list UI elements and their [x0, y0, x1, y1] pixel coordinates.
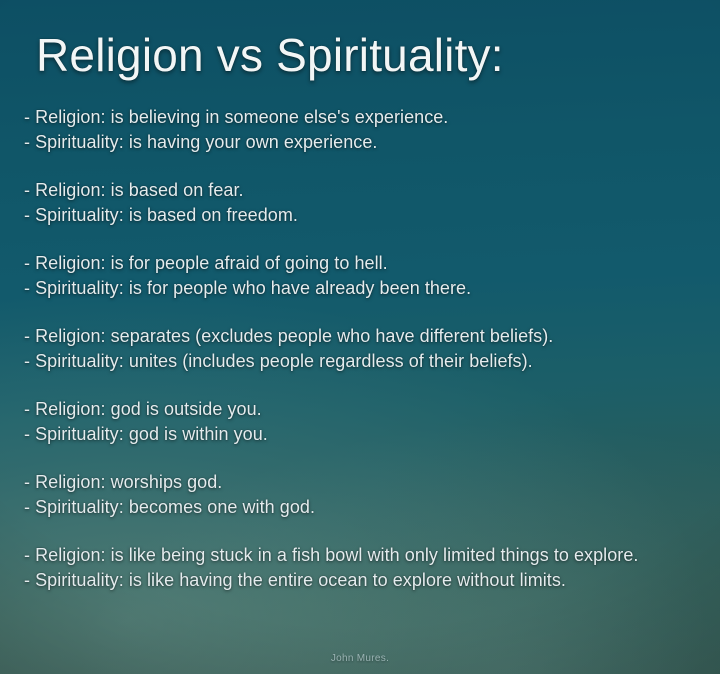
comparison-block: - Religion: worships god. - Spirituality…	[24, 470, 702, 520]
comparison-block: - Religion: is based on fear. - Spiritua…	[24, 178, 702, 228]
spirituality-line: - Spirituality: god is within you.	[24, 422, 702, 447]
spirituality-line: - Spirituality: unites (includes people …	[24, 349, 702, 374]
spirituality-line: - Spirituality: becomes one with god.	[24, 495, 702, 520]
religion-line: - Religion: god is outside you.	[24, 397, 702, 422]
spirituality-line: - Spirituality: is having your own exper…	[24, 130, 702, 155]
attribution-credit: John Mures.	[0, 653, 720, 664]
religion-line: - Religion: worships god.	[24, 470, 702, 495]
spirituality-line: - Spirituality: is like having the entir…	[24, 568, 702, 593]
religion-line: - Religion: is based on fear.	[24, 178, 702, 203]
comparison-block: - Religion: god is outside you. - Spirit…	[24, 397, 702, 447]
religion-line: - Religion: separates (excludes people w…	[24, 324, 702, 349]
comparison-block: - Religion: is like being stuck in a fis…	[24, 543, 702, 593]
religion-line: - Religion: is believing in someone else…	[24, 105, 702, 130]
comparison-block: - Religion: is for people afraid of goin…	[24, 251, 702, 301]
comparison-block: - Religion: separates (excludes people w…	[24, 324, 702, 374]
comparison-list: - Religion: is believing in someone else…	[24, 105, 702, 616]
poster-title: Religion vs Spirituality:	[36, 28, 504, 82]
poster-image: Religion vs Spirituality: - Religion: is…	[0, 0, 720, 674]
poster-content: Religion vs Spirituality: - Religion: is…	[0, 0, 720, 674]
religion-line: - Religion: is like being stuck in a fis…	[24, 543, 702, 568]
spirituality-line: - Spirituality: is for people who have a…	[24, 276, 702, 301]
religion-line: - Religion: is for people afraid of goin…	[24, 251, 702, 276]
spirituality-line: - Spirituality: is based on freedom.	[24, 203, 702, 228]
comparison-block: - Religion: is believing in someone else…	[24, 105, 702, 155]
